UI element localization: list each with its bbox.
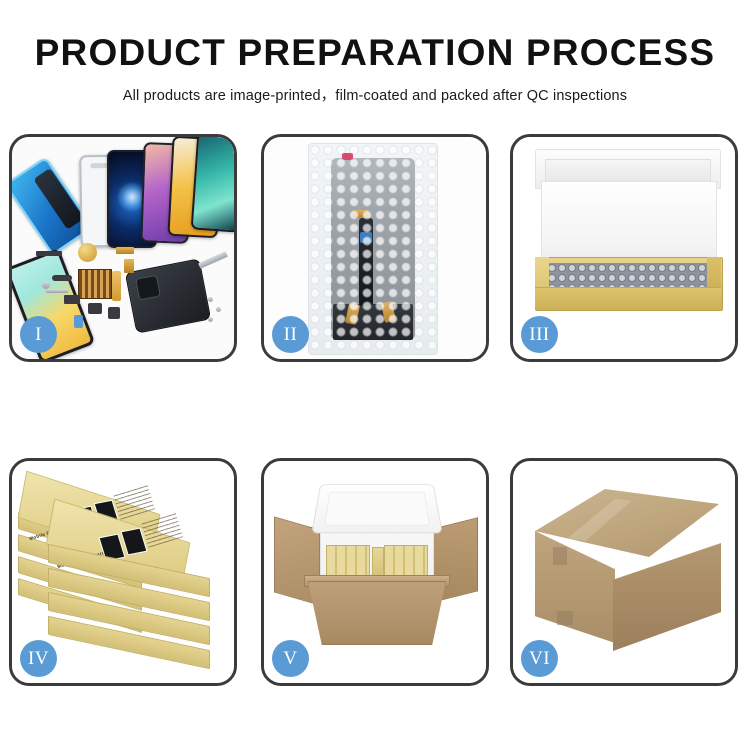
step-panel-1: I [9, 134, 237, 362]
metal-bracket-part [42, 281, 50, 289]
step-badge-1: I [20, 316, 57, 353]
chip-part [36, 251, 62, 256]
step-panel-4: Mobile Phone Spare Parts Mobile Phone Sp… [9, 458, 237, 686]
metal-bracket-part [46, 289, 68, 293]
bubble-texture [309, 144, 437, 354]
product-preparation-infographic: PRODUCT PREPARATION PROCESS All products… [0, 0, 750, 750]
step-badge-3: III [521, 316, 558, 353]
step-1-image: I [12, 137, 234, 359]
tweezer-tool [198, 251, 228, 269]
box-lid-face [545, 159, 711, 183]
step-badge-4: IV [20, 640, 57, 677]
kraft-tray-front-wall [535, 287, 721, 310]
step-badge-6: VI [521, 640, 558, 677]
phone-screen-teal [191, 137, 234, 233]
step-4-image: Mobile Phone Spare Parts Mobile Phone Sp… [12, 461, 234, 683]
step-panel-3: III [510, 134, 738, 362]
step-3-image: III [513, 137, 735, 359]
camera-part [74, 315, 83, 328]
chip-part [88, 303, 102, 314]
carton-front-wall [308, 581, 446, 645]
step-5-image: V [264, 461, 486, 683]
step-badge-2: II [272, 316, 309, 353]
gold-flex-part [116, 247, 134, 254]
screw-part [208, 297, 213, 302]
page-subtitle: All products are image-printed，film-coat… [0, 73, 750, 105]
screw-part [208, 317, 213, 322]
chip-part [52, 275, 72, 281]
screw-part [216, 307, 221, 312]
chip-part [108, 307, 120, 319]
carton-tab-slot [557, 611, 573, 625]
carton-right-face [613, 543, 721, 651]
foam-box-lid [311, 484, 443, 533]
coil-part-icon [78, 243, 97, 262]
gold-flex-part [124, 259, 134, 273]
connector-grid-part [78, 269, 112, 299]
flex-ribbon-part [112, 271, 121, 301]
phone-back-housing [125, 258, 211, 333]
header: PRODUCT PREPARATION PROCESS All products… [0, 0, 750, 105]
step-panel-5: V [261, 458, 489, 686]
step-panel-6: VI [510, 458, 738, 686]
step-panel-2: II [261, 134, 489, 362]
page-title: PRODUCT PREPARATION PROCESS [0, 0, 750, 73]
carton-tab-slot [553, 547, 567, 565]
chip-part [64, 295, 80, 304]
carton-left-face [535, 531, 615, 643]
steps-grid: I II [0, 131, 750, 697]
step-2-image: II [264, 137, 486, 359]
step-badge-5: V [272, 640, 309, 677]
step-6-image: VI [513, 461, 735, 683]
bubble-wrap-bag [308, 143, 438, 355]
